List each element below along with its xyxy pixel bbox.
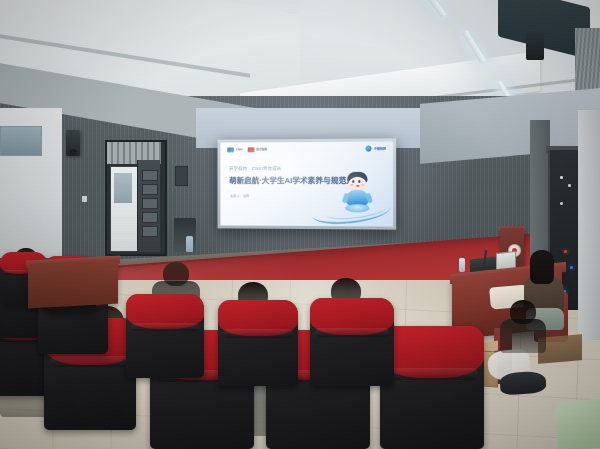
slide-kicker: 开学有约 · CNKI伴你成长 xyxy=(229,166,281,172)
seat-trim xyxy=(223,329,293,338)
cnki-logo-icon: CNKI xyxy=(227,147,242,152)
speaker-mount-bracket xyxy=(526,32,544,60)
wall-plaque xyxy=(175,166,188,186)
slide-logo-left-2: 同方知网 xyxy=(256,147,267,151)
person-head xyxy=(163,262,189,286)
seat-r2-c5[interactable] xyxy=(310,298,394,386)
mascot-cheek-left xyxy=(350,184,353,186)
open-doorway[interactable] xyxy=(110,166,138,252)
front-desk[interactable] xyxy=(28,260,118,309)
right-wall xyxy=(578,110,600,340)
desk-bottle xyxy=(459,258,465,272)
operator-hair xyxy=(530,250,554,284)
cnki-globe-icon xyxy=(366,146,372,152)
projection-screen[interactable]: CNKI 同方知网 中国知网 开学有约 · CNKI伴你成长 萌新启航·大学生A… xyxy=(218,138,397,229)
slide-byline: 主讲人：嘉宾 xyxy=(230,194,249,198)
slide-logo-right-label: 中国知网 xyxy=(374,147,386,151)
slide-logos-left: CNKI 同方知网 xyxy=(227,147,267,152)
screen-bezel: CNKI 同方知网 中国知网 开学有约 · CNKI伴你成长 萌新启航·大学生A… xyxy=(218,138,397,229)
seat-trim xyxy=(131,323,200,331)
cnki-logo-mark xyxy=(227,147,234,151)
light-switch-left[interactable] xyxy=(82,196,87,202)
presentation-slide: CNKI 同方知网 中国知网 开学有约 · CNKI伴你成长 萌新启航·大学生A… xyxy=(220,141,393,226)
lecture-hall-photo: CNKI 同方知网 中国知网 开学有约 · CNKI伴你成长 萌新启航·大学生A… xyxy=(0,0,600,449)
water-bottle xyxy=(186,236,193,252)
tongfang-logo-mark xyxy=(247,147,254,151)
audience-member-9 xyxy=(500,300,546,358)
seat-r2-c3[interactable] xyxy=(126,294,204,378)
seat-r2-c4[interactable] xyxy=(218,300,298,386)
mascot-cheek-right xyxy=(361,184,364,186)
mascot-mouth xyxy=(356,185,359,187)
rack-led-1 xyxy=(560,176,563,179)
left-window xyxy=(0,126,42,156)
seat-trim xyxy=(50,356,131,367)
door-leaf[interactable] xyxy=(137,160,160,252)
seat-trim xyxy=(386,368,478,380)
slide-logo-right: 中国知网 xyxy=(366,145,386,151)
tongfang-logo-icon: 同方知网 xyxy=(247,147,266,152)
slide-logo-left-1: CNKI xyxy=(236,148,243,151)
wall-speaker-left-icon xyxy=(66,130,80,156)
rack-led-3 xyxy=(560,202,563,205)
seat-r1-c5[interactable] xyxy=(380,326,484,449)
seat-trim xyxy=(315,328,389,337)
rack-led-2 xyxy=(568,184,571,187)
person-head xyxy=(510,300,536,324)
green-object xyxy=(554,398,600,449)
rack-led-network xyxy=(570,266,573,269)
